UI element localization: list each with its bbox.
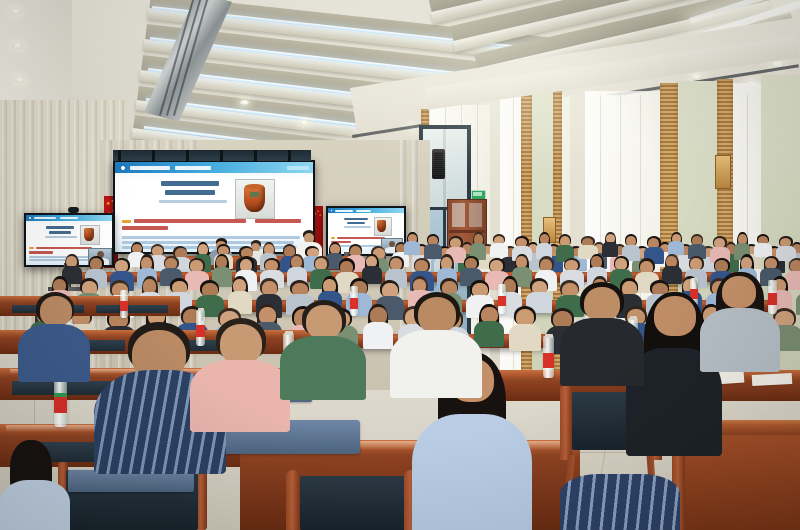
audience-member xyxy=(404,232,420,257)
audience-member xyxy=(509,306,541,355)
bronze-vessel-icon xyxy=(244,185,265,212)
attendee-green-shirt xyxy=(280,300,366,396)
downlight-icon xyxy=(14,76,25,83)
lecture-hall-photo: ★ ★ ★ ★ ★ ★ ★ ★ xyxy=(0,0,800,530)
audience-member xyxy=(490,234,508,259)
downlight-icon xyxy=(300,120,309,125)
attendee-white-shirt xyxy=(390,292,482,394)
bronze-vessel-icon xyxy=(84,228,94,241)
screen-top-bezel xyxy=(113,150,311,161)
chair-seat-back[interactable] xyxy=(300,476,408,530)
torso xyxy=(363,322,393,349)
attendee-blue-left xyxy=(18,292,90,378)
chair-back-frame[interactable] xyxy=(560,384,572,460)
paper-on-desk[interactable] xyxy=(752,373,793,386)
wall-sconce xyxy=(715,155,731,189)
attendee-pink-shirt xyxy=(190,318,290,428)
attendee-stripes-bottom-right xyxy=(560,468,680,530)
chair-back-frame[interactable] xyxy=(286,470,300,530)
attendee-blue-far-left xyxy=(0,440,70,530)
downlight-icon xyxy=(240,100,249,105)
bronze-vessel-icon xyxy=(377,220,386,232)
bullet-marker xyxy=(122,220,131,223)
torso xyxy=(490,243,508,257)
university-emblem-icon xyxy=(119,164,127,172)
audience-member xyxy=(363,304,393,353)
attendee-gray-shirt xyxy=(700,272,780,368)
torso xyxy=(404,241,420,255)
torso xyxy=(668,241,684,255)
attendee-black-tshirt xyxy=(560,282,644,382)
downlight-icon xyxy=(12,42,23,49)
downlight-icon xyxy=(10,8,21,15)
torso xyxy=(509,324,541,351)
